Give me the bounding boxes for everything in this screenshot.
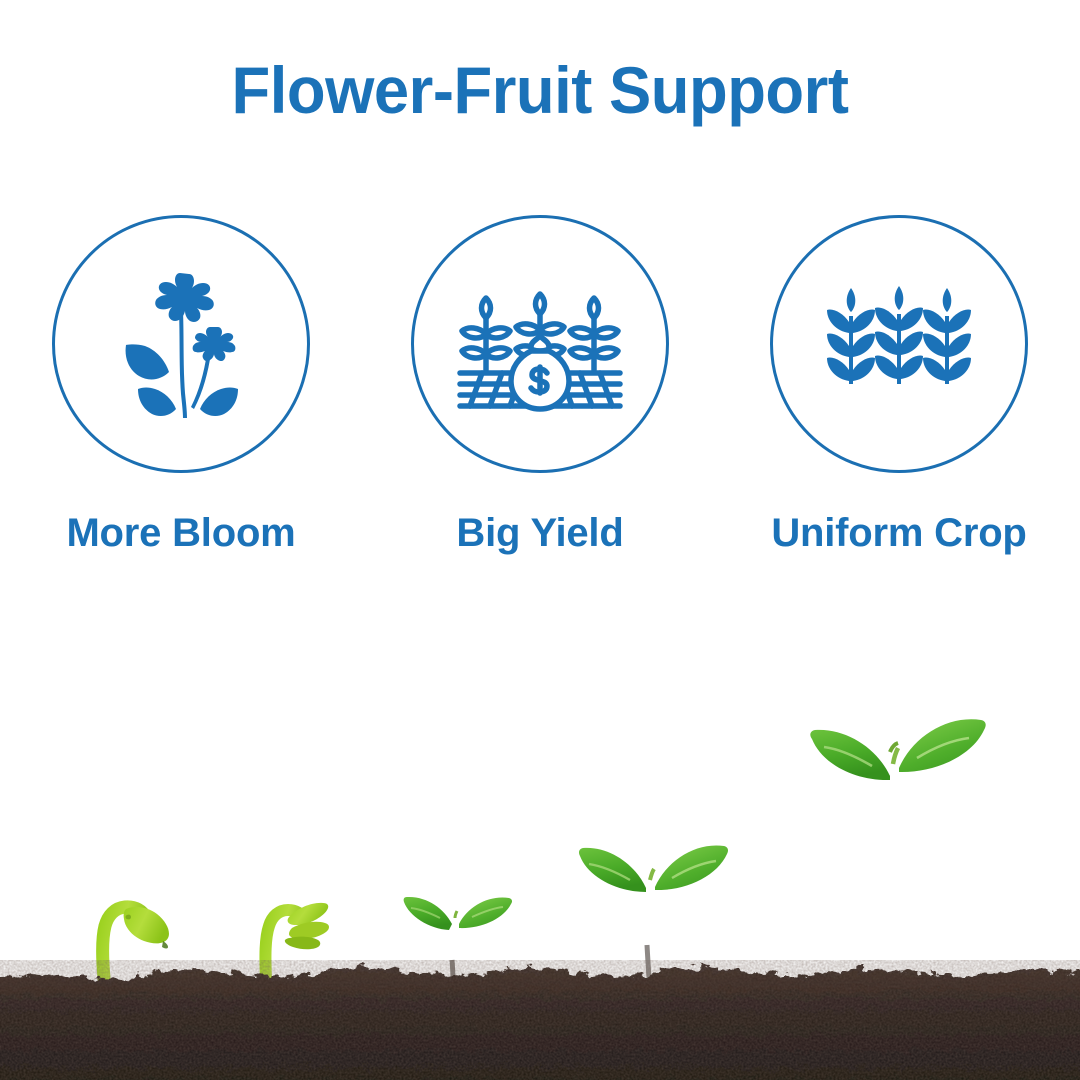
feature-label-more-bloom: More Bloom (66, 511, 295, 556)
page-title: Flower-Fruit Support (22, 52, 1059, 128)
icon-circle-uniform-crop (770, 215, 1028, 473)
flower-icon (116, 267, 246, 422)
wheat-stalks-icon (827, 282, 972, 407)
feature-uniform-crop[interactable]: Uniform Crop (770, 215, 1028, 556)
feature-more-bloom[interactable]: More Bloom (52, 215, 310, 556)
feature-big-yield[interactable]: Big Yield (411, 215, 669, 556)
poster-canvas: Flower-Fruit Support (0, 0, 1080, 1080)
feature-row: More Bloom (0, 215, 1080, 556)
feature-label-big-yield: Big Yield (456, 511, 623, 556)
soil-bed (0, 960, 1080, 1080)
seedling-growth-stages-photo (0, 660, 1080, 1080)
icon-circle-more-bloom (52, 215, 310, 473)
stage-5-large-seedling (810, 719, 985, 992)
feature-label-uniform-crop: Uniform Crop (771, 511, 1026, 556)
field-money-bag-icon (456, 274, 624, 414)
icon-circle-big-yield (411, 215, 669, 473)
